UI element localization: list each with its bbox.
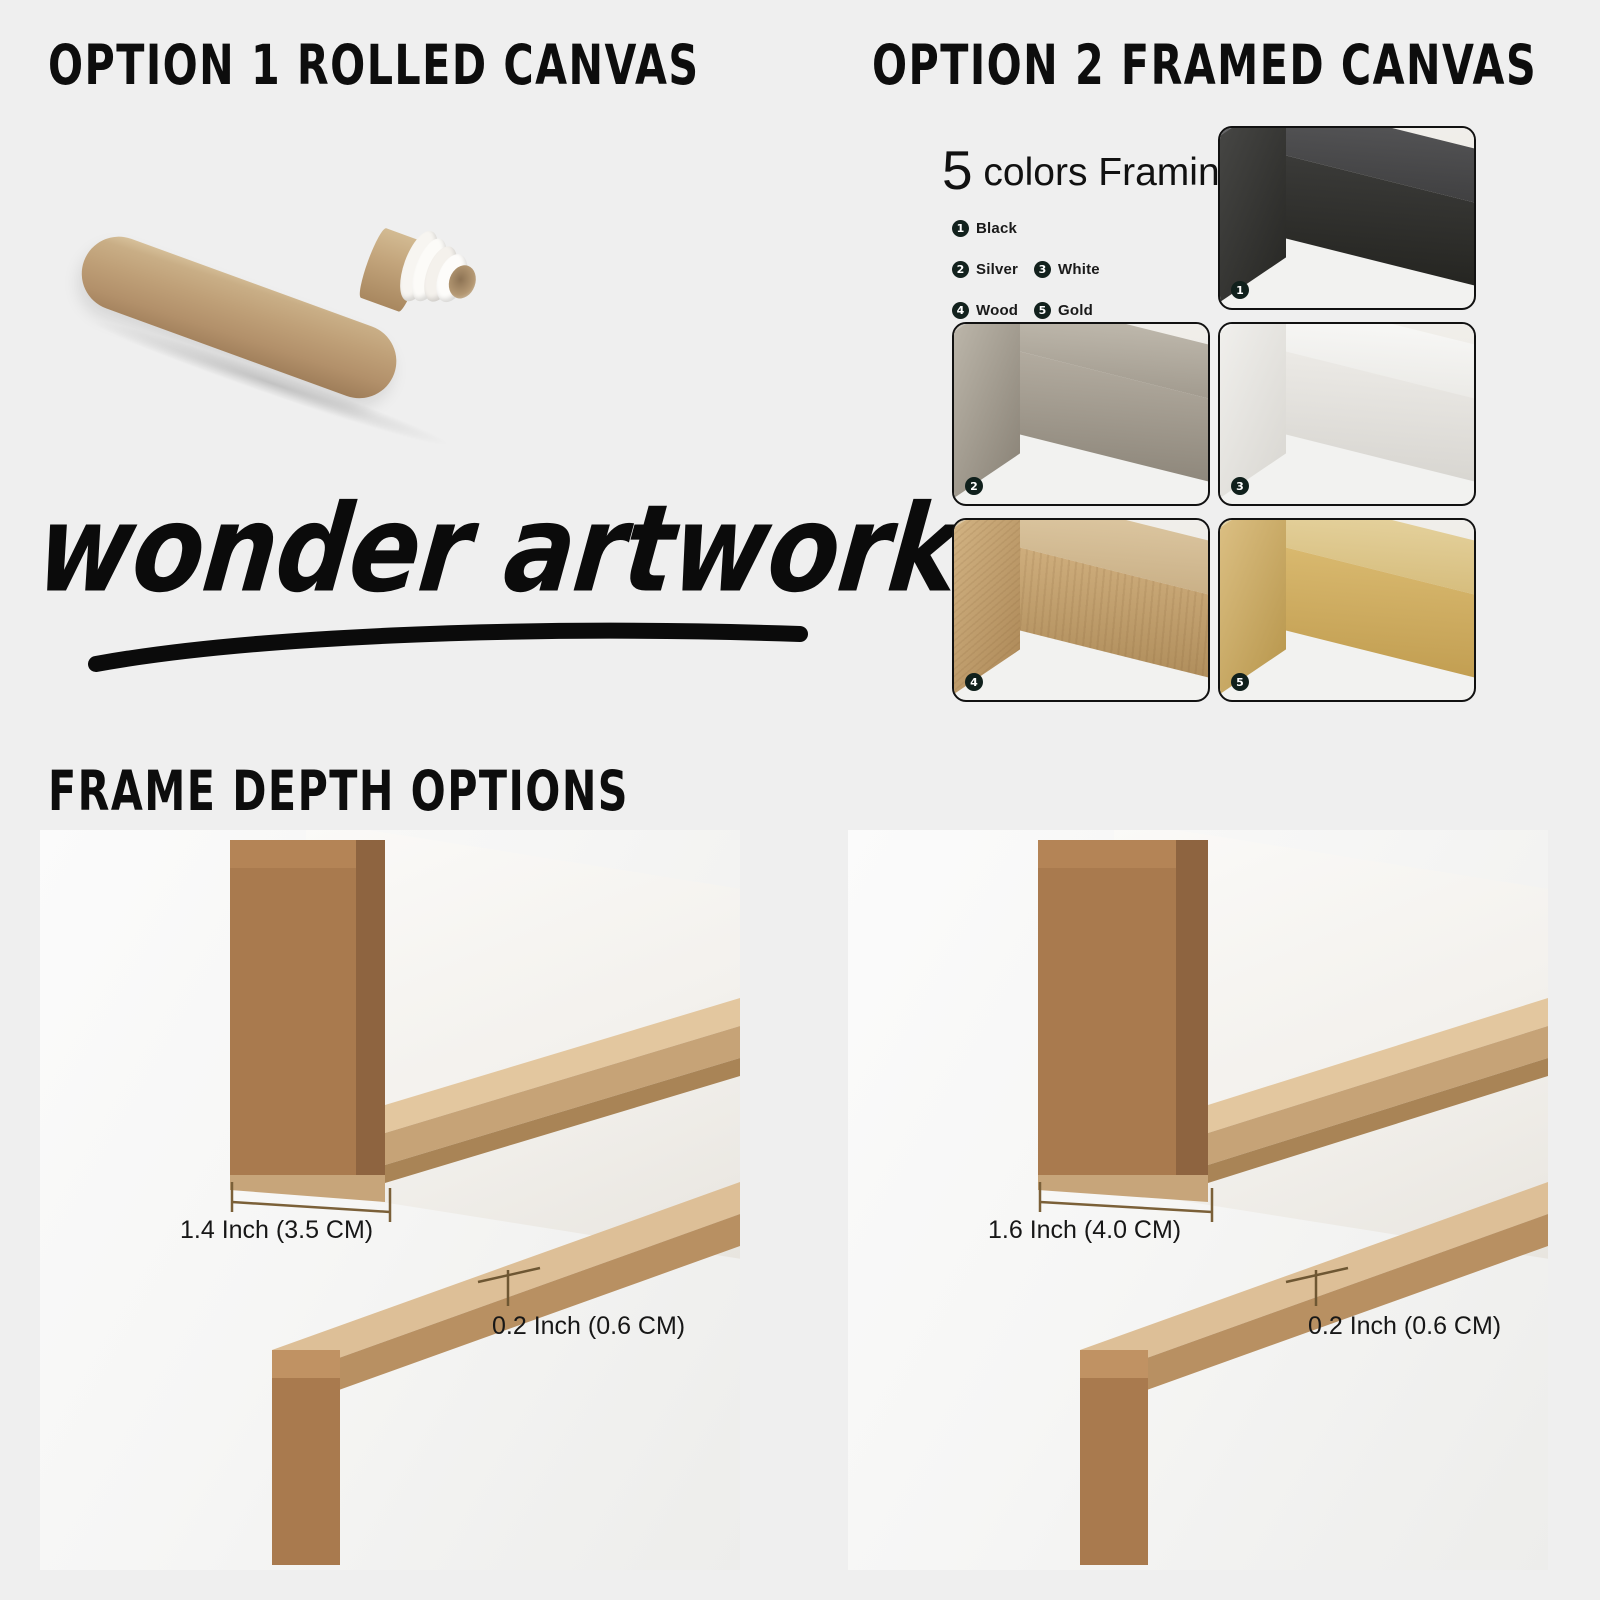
card-number-badge-icon: 1 — [1231, 281, 1249, 299]
framing-count: 5 — [942, 139, 973, 201]
frame-sample-card-silver[interactable]: 2 — [952, 322, 1210, 506]
lower-bar-end-top — [272, 1350, 340, 1378]
frame-depth-label-1: 1.4 Inch (3.5 CM) — [180, 1216, 373, 1245]
canvas-thickness-label-2: 0.2 Inch (0.6 CM) — [1308, 1312, 1501, 1341]
framing-title-rest: colors Framing — [973, 151, 1242, 194]
dim-line-depth — [1040, 1202, 1212, 1212]
framing-colors-legend: 1 Black 2 Silver 3 White 4 Wood 5 Gold — [952, 212, 1116, 335]
brand-logo: wonder artwork — [40, 478, 920, 668]
frame-side-face — [1218, 322, 1286, 504]
frame-sample-card-gold[interactable]: 5 — [1218, 518, 1476, 702]
lower-rail-top — [1080, 1182, 1548, 1382]
frame-vertical-bar-edge — [1176, 840, 1208, 1175]
logo-underline-stroke — [88, 616, 828, 676]
frame-side-face — [1218, 518, 1286, 700]
frame-corner-illustration-gold — [1220, 520, 1474, 700]
frame-side-face — [952, 322, 1020, 504]
frame-corner-illustration-silver — [954, 324, 1208, 504]
framing-colors-title: 5 colors Framing — [942, 138, 1241, 202]
frame-vertical-bar-edge — [356, 840, 385, 1175]
number-badge-icon: 1 — [952, 220, 969, 237]
frame-side-face — [952, 518, 1020, 700]
frame-depth-label-2: 1.6 Inch (4.0 CM) — [988, 1216, 1181, 1245]
frame-depth-heading: FRAME DEPTH OPTIONS — [48, 760, 629, 824]
legend-label: Wood — [976, 302, 1018, 319]
option2-heading: OPTION 2 FRAMED CANVAS — [872, 34, 1537, 98]
frame-corner-illustration-wood — [954, 520, 1208, 700]
legend-row: 1 Black — [952, 212, 1116, 244]
legend-item-black: 1 Black — [952, 220, 1034, 237]
frame-sample-card-white[interactable]: 3 — [1218, 322, 1476, 506]
legend-label: Silver — [976, 261, 1018, 278]
frame-corner-illustration-black — [1220, 128, 1474, 308]
legend-row: 2 Silver 3 White — [952, 253, 1116, 285]
legend-label: Black — [976, 220, 1017, 237]
legend-item-silver: 2 Silver — [952, 261, 1034, 278]
brand-logo-text: wonder artwork — [31, 478, 965, 620]
frame-side-face — [1218, 126, 1286, 308]
legend-label: White — [1058, 261, 1100, 278]
frame-sample-card-wood[interactable]: 4 — [952, 518, 1210, 702]
number-badge-icon: 4 — [952, 302, 969, 319]
number-badge-icon: 3 — [1034, 261, 1051, 278]
frame-depth-photo-2: 1.6 Inch (4.0 CM) 0.2 Inch (0.6 CM) — [848, 830, 1548, 1570]
legend-item-white: 3 White — [1034, 261, 1116, 278]
number-badge-icon: 2 — [952, 261, 969, 278]
frame-sample-card-black[interactable]: 1 — [1218, 126, 1476, 310]
frame-depth-diagram-1 — [40, 830, 740, 1570]
number-badge-icon: 5 — [1034, 302, 1051, 319]
lower-bar-end — [272, 1350, 340, 1565]
card-number-badge-icon: 3 — [1231, 477, 1249, 495]
frame-depth-diagram-2 — [848, 830, 1548, 1570]
frame-bar-foot — [1038, 1175, 1208, 1202]
rolled-canvas-tube-illustration — [70, 140, 520, 380]
legend-item-wood: 4 Wood — [952, 302, 1034, 319]
card-number-badge-icon: 5 — [1231, 673, 1249, 691]
lower-bar-end-top — [1080, 1350, 1148, 1378]
option1-heading: OPTION 1 ROLLED CANVAS — [48, 34, 700, 98]
legend-item-gold: 5 Gold — [1034, 302, 1116, 319]
lower-rail-top — [272, 1182, 740, 1382]
card-number-badge-icon: 2 — [965, 477, 983, 495]
legend-label: Gold — [1058, 302, 1093, 319]
dim-line-depth — [232, 1202, 390, 1212]
frame-depth-photo-1: 1.4 Inch (3.5 CM) 0.2 Inch (0.6 CM) — [40, 830, 740, 1570]
frame-bar-foot — [230, 1175, 385, 1202]
frame-corner-illustration-white — [1220, 324, 1474, 504]
infographic-stage: OPTION 1 ROLLED CANVAS wonder artwork OP… — [0, 0, 1600, 1600]
canvas-thickness-label-1: 0.2 Inch (0.6 CM) — [492, 1312, 685, 1341]
card-number-badge-icon: 4 — [965, 673, 983, 691]
lower-bar-end — [1080, 1350, 1148, 1565]
